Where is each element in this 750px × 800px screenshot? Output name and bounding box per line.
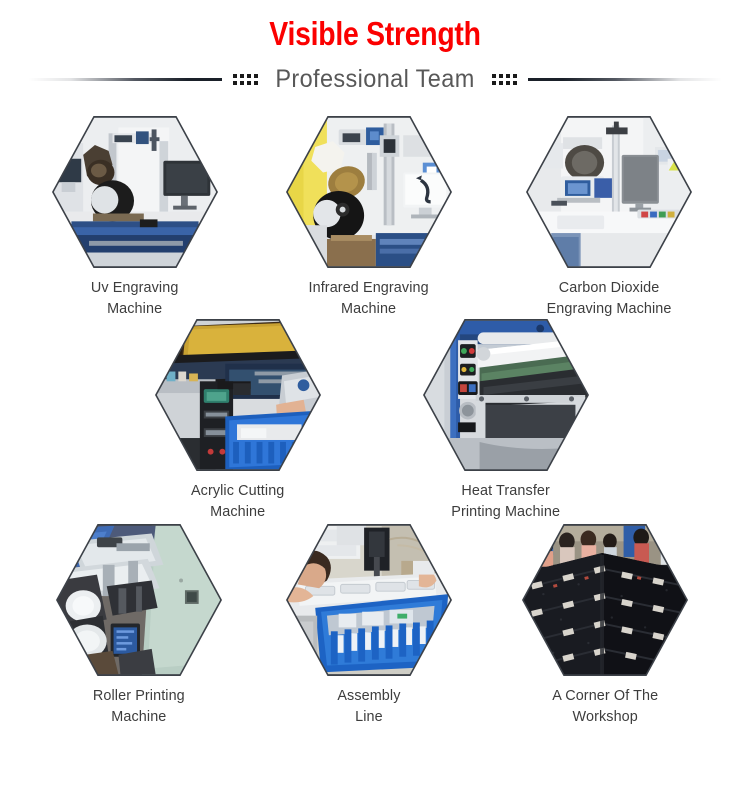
gallery-item-heat-transfer-printing-machine[interactable]: Heat Transfer Printing Machine bbox=[411, 319, 601, 522]
infrared-engraving-machine-photo bbox=[288, 118, 450, 267]
gallery-item-caption: Uv Engraving Machine bbox=[91, 277, 179, 319]
hexagon-photo-frame[interactable] bbox=[423, 319, 589, 471]
gallery-item-caption: Assembly Line bbox=[337, 685, 400, 727]
roller-printing-machine-photo bbox=[58, 526, 220, 675]
hexagon-photo-frame[interactable] bbox=[526, 116, 692, 268]
caption-line-2: Machine bbox=[191, 501, 284, 522]
gallery-item-roller-printing-machine[interactable]: Roller Printing Machine bbox=[50, 524, 228, 727]
gallery-row: Uv Engraving Machine bbox=[0, 116, 750, 319]
caption-line-1: A Corner Of The bbox=[552, 687, 658, 704]
gallery-row: Roller Printing Machine bbox=[0, 524, 750, 727]
divider-line-left bbox=[28, 78, 222, 81]
page-title: Visible Strength bbox=[53, 14, 698, 54]
caption-line-1: Infrared Engraving bbox=[309, 279, 429, 296]
caption-line-2: Engraving Machine bbox=[547, 298, 672, 319]
caption-line-1: Acrylic Cutting bbox=[191, 482, 284, 499]
gallery-item-caption: A Corner Of The Workshop bbox=[552, 685, 658, 727]
caption-line-1: Assembly bbox=[337, 687, 400, 704]
gallery-item-caption: Carbon Dioxide Engraving Machine bbox=[547, 277, 672, 319]
gallery-item-caption: Heat Transfer Printing Machine bbox=[452, 480, 561, 522]
assembly-line-photo bbox=[288, 526, 450, 675]
gallery-item-caption: Acrylic Cutting Machine bbox=[191, 480, 284, 522]
dot-grid-left-icon bbox=[233, 74, 258, 85]
caption-line-1: Heat Transfer bbox=[462, 482, 550, 499]
gallery-item-workshop-corner[interactable]: A Corner Of The Workshop bbox=[510, 524, 700, 727]
gallery-item-assembly-line[interactable]: Assembly Line bbox=[280, 524, 458, 727]
gallery-item-uv-engraving-machine[interactable]: Uv Engraving Machine bbox=[46, 116, 224, 319]
acrylic-cutting-machine-photo bbox=[157, 321, 319, 470]
gallery-row: Acrylic Cutting Machine bbox=[0, 319, 750, 522]
gallery-item-acrylic-cutting-machine[interactable]: Acrylic Cutting Machine bbox=[149, 319, 327, 522]
caption-line-2: Machine bbox=[93, 706, 185, 727]
caption-line-2: Line bbox=[337, 706, 400, 727]
page-subtitle: Professional Team bbox=[275, 64, 474, 94]
caption-line-2: Workshop bbox=[552, 706, 658, 727]
workshop-corner-photo bbox=[524, 526, 686, 675]
hexagon-photo-frame[interactable] bbox=[155, 319, 321, 471]
hexagon-photo-frame[interactable] bbox=[522, 524, 688, 676]
caption-line-2: Machine bbox=[91, 298, 179, 319]
hexagon-photo-frame[interactable] bbox=[286, 524, 452, 676]
page-header: Visible Strength Professional Team bbox=[0, 0, 750, 94]
hexagon-photo-frame[interactable] bbox=[286, 116, 452, 268]
gallery-item-infrared-engraving-machine[interactable]: Infrared Engraving Machine bbox=[280, 116, 458, 319]
gallery-item-caption: Roller Printing Machine bbox=[93, 685, 185, 727]
hexagon-photo-frame[interactable] bbox=[52, 116, 218, 268]
uv-engraving-machine-photo bbox=[54, 118, 216, 267]
carbon-dioxide-engraving-machine-photo bbox=[528, 118, 690, 267]
subtitle-row: Professional Team bbox=[0, 64, 750, 94]
caption-line-1: Carbon Dioxide bbox=[559, 279, 660, 296]
heat-transfer-printing-machine-photo bbox=[425, 321, 587, 470]
hexagon-photo-frame[interactable] bbox=[56, 524, 222, 676]
caption-line-2: Printing Machine bbox=[452, 501, 561, 522]
equipment-gallery: Uv Engraving Machine bbox=[0, 116, 750, 727]
divider-line-right bbox=[528, 78, 722, 81]
caption-line-1: Roller Printing bbox=[93, 687, 185, 704]
dot-grid-right-icon bbox=[492, 74, 517, 85]
gallery-item-caption: Infrared Engraving Machine bbox=[309, 277, 429, 319]
caption-line-1: Uv Engraving bbox=[91, 279, 179, 296]
caption-line-2: Machine bbox=[309, 298, 429, 319]
gallery-item-carbon-dioxide-engraving-machine[interactable]: Carbon Dioxide Engraving Machine bbox=[514, 116, 704, 319]
